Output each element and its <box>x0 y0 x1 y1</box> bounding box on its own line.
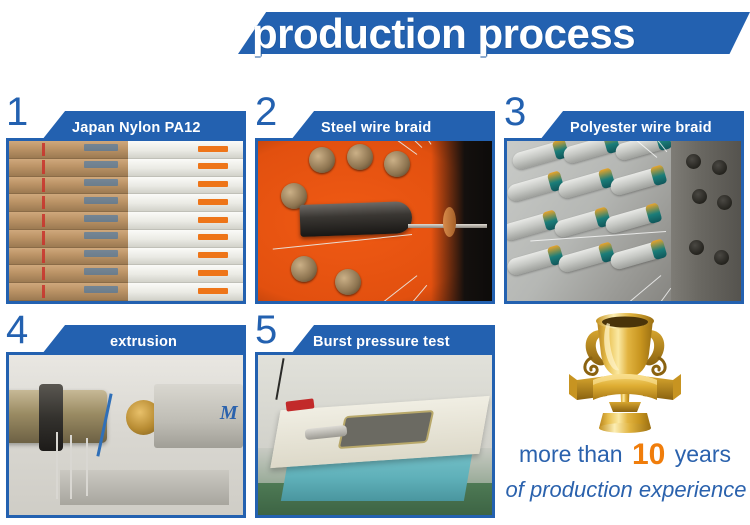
card-number-4: 4 <box>6 310 28 350</box>
white-bag <box>128 248 243 266</box>
polyester-thread <box>582 276 662 301</box>
barrel-flange <box>39 384 62 451</box>
polyester-thread <box>531 231 666 241</box>
card-3[interactable] <box>504 138 744 304</box>
machine-body: M <box>154 384 243 448</box>
gold-trophy-icon <box>563 310 687 443</box>
card-photo-2 <box>258 141 492 301</box>
white-bag <box>128 194 243 212</box>
wire-spool <box>384 151 410 177</box>
card-label-text-2: Steel wire braid <box>321 120 431 136</box>
white-bag <box>128 159 243 177</box>
card-label-text-4: extrusion <box>72 334 177 350</box>
card-number-3: 3 <box>504 92 526 132</box>
machine-logo: M <box>220 402 238 425</box>
kraft-bag <box>9 194 128 212</box>
yarn-bobbin <box>609 166 666 197</box>
yarn-bobbin <box>562 141 619 165</box>
kraft-bag <box>9 159 128 177</box>
yarn-bobbin <box>609 239 666 270</box>
card-label-text-3: Polyester wire braid <box>570 120 712 136</box>
kraft-bag <box>9 283 128 301</box>
white-bag <box>128 230 243 248</box>
braided-hose <box>300 201 413 237</box>
card-number-2: 2 <box>255 92 277 132</box>
guide-disc <box>443 207 456 237</box>
card-1[interactable] <box>6 138 246 304</box>
white-bag <box>128 212 243 230</box>
years-headline: more than 10 years <box>500 440 750 469</box>
kraft-bag <box>9 212 128 230</box>
wire-spool <box>335 269 361 295</box>
card-photo-1 <box>9 141 243 301</box>
card-4[interactable]: M <box>6 352 246 518</box>
kraft-bag <box>9 248 128 266</box>
kraft-bag <box>9 177 128 195</box>
experience-highlight: more than 10 years of production experie… <box>500 308 750 525</box>
white-bag <box>128 177 243 195</box>
kraft-bag <box>9 265 128 283</box>
header-banner: production process <box>0 0 750 80</box>
card-2[interactable] <box>255 138 495 304</box>
card-label-text-1: Japan Nylon PA12 <box>72 120 201 136</box>
wire-spool <box>347 144 373 170</box>
card-number-5: 5 <box>255 310 277 350</box>
yarn-bobbin <box>507 246 562 277</box>
yarn-bobbin <box>510 141 567 172</box>
control-panel <box>338 410 435 449</box>
yarn-bobbin <box>507 172 562 203</box>
card-number-1: 1 <box>6 92 28 132</box>
steel-wire <box>273 234 413 250</box>
card-label-text-5: Burst pressure test <box>313 334 450 350</box>
yarn-bobbin <box>557 243 614 274</box>
years-prefix: more than <box>519 441 623 467</box>
wire-spool <box>309 147 335 173</box>
yarn-bobbin <box>604 204 661 235</box>
cable <box>70 435 72 499</box>
years-number: 10 <box>629 438 668 471</box>
years-suffix: years <box>675 441 731 467</box>
card-photo-4: M <box>9 355 243 515</box>
cable <box>86 438 88 496</box>
card-5[interactable] <box>255 352 495 518</box>
braiding-head <box>671 141 741 301</box>
white-bag <box>128 265 243 283</box>
white-bag <box>128 141 243 159</box>
kraft-bag <box>9 230 128 248</box>
kraft-bag <box>9 141 128 159</box>
yarn-bobbin <box>507 211 558 242</box>
experience-subline: of production experience <box>500 476 750 504</box>
wire-spool <box>291 256 317 282</box>
card-photo-5 <box>258 355 492 515</box>
cable <box>56 432 58 499</box>
yarn-bobbin <box>557 169 614 200</box>
card-photo-3 <box>507 141 741 301</box>
white-bag <box>128 283 243 301</box>
yarn-bobbin <box>552 207 609 238</box>
page-title: production process <box>252 8 750 60</box>
machine-shadow <box>431 141 492 301</box>
